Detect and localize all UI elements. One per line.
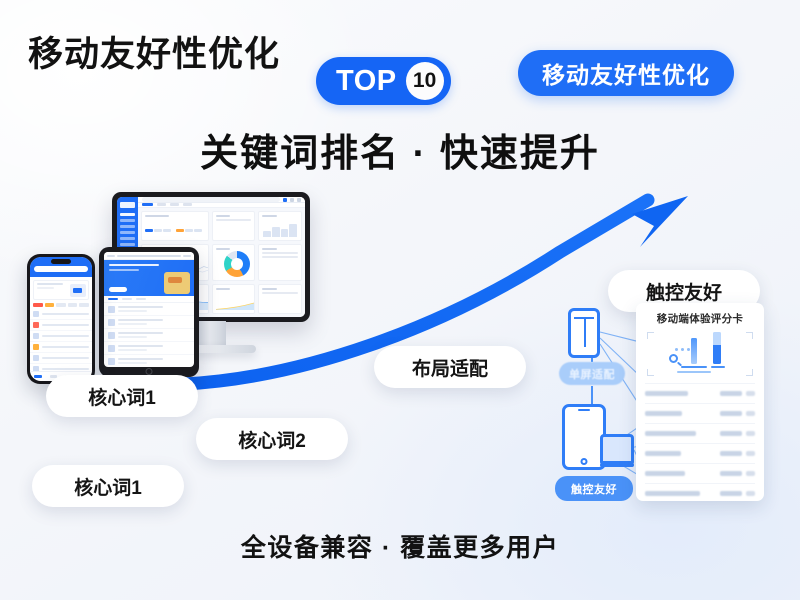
page-title: 移动友好性优化 <box>28 26 280 77</box>
hero-illustration <box>164 272 190 294</box>
widget-area-chart-right <box>212 284 256 314</box>
tab-item <box>170 203 179 206</box>
hero-cta-button <box>109 287 127 292</box>
dashboard-nav-item <box>120 243 135 246</box>
pill-keyword-3[interactable]: 核心词1 <box>32 465 184 507</box>
pill-layout-adapt[interactable]: 布局适配 <box>374 346 526 388</box>
header-tag-pill: 移动友好性优化 <box>518 50 734 96</box>
table-row <box>645 463 755 483</box>
dashboard-logo-icon <box>120 202 135 208</box>
widget-side-stats <box>258 244 302 282</box>
tablet-screen <box>104 252 194 367</box>
page-footer-text: 全设备兼容 · 覆盖更多用户 <box>0 528 800 564</box>
mobile-experience-diagram: 单屏适配 触控友好 移动端体验评分卡 <box>548 300 792 515</box>
phone-feature-card <box>33 280 89 300</box>
diagram-chip-single-screen: 单屏适配 <box>559 362 625 385</box>
search-input <box>34 266 88 272</box>
phone-device <box>27 254 95 384</box>
dashboard-nav-item <box>120 225 135 228</box>
dashboard-nav-item <box>120 219 135 222</box>
list-item <box>30 331 92 342</box>
tab-item <box>183 203 192 206</box>
phone-bezel <box>27 254 95 384</box>
bell-icon <box>283 198 287 202</box>
poster-canvas: 移动友好性优化 TOP 10 移动友好性优化 关键词排名 · 快速提升 全设备兼… <box>0 0 800 600</box>
pill-keyword-2[interactable]: 核心词2 <box>196 418 348 460</box>
list-item <box>30 320 92 331</box>
list-item <box>30 342 92 353</box>
phone-split-icon <box>568 308 600 358</box>
tablet-outline-icon <box>600 434 634 464</box>
tablet-statusbar <box>104 252 194 260</box>
phone-screen <box>30 257 92 381</box>
tab-item <box>157 203 166 206</box>
chart-bar <box>713 332 721 364</box>
tablet-bezel <box>99 247 199 377</box>
dashboard-nav-item <box>120 213 135 216</box>
list-item <box>104 303 194 316</box>
card-thumbnail <box>70 284 86 297</box>
chart-bar <box>691 338 697 364</box>
device-cluster <box>22 192 342 372</box>
dashboard-nav-item <box>120 231 135 234</box>
list-item <box>104 329 194 342</box>
mobile-score-card: 移动端体验评分卡 <box>636 303 764 501</box>
widget-filters <box>141 211 209 241</box>
list-item <box>30 309 92 320</box>
list-item <box>104 342 194 355</box>
table-row <box>645 483 755 503</box>
magnifier-icon <box>669 354 678 363</box>
home-button-icon <box>146 368 153 375</box>
list-item <box>30 353 92 364</box>
table-row <box>645 383 755 403</box>
top-number: 10 <box>406 62 444 100</box>
list-item <box>104 316 194 329</box>
tablet-device <box>99 247 199 377</box>
top-rank-badge: TOP 10 <box>316 57 451 105</box>
score-card-chart-illustration <box>647 332 753 376</box>
top-label: TOP <box>336 65 397 98</box>
tablet-hero-banner <box>104 260 194 296</box>
donut-chart <box>224 251 250 277</box>
gear-icon <box>290 198 294 202</box>
list-item <box>104 355 194 367</box>
phone-notch <box>51 259 71 264</box>
monitor-stand-neck <box>196 321 226 347</box>
diagram-chip-touch-friendly: 触控友好 <box>555 476 633 501</box>
score-card-title: 移动端体验评分卡 <box>645 311 755 326</box>
page-subtitle: 关键词排名 · 快速提升 <box>0 122 800 177</box>
table-row <box>645 443 755 463</box>
avatar <box>297 198 301 202</box>
tablet-segment-tabs <box>104 296 194 303</box>
widget-summary <box>212 211 256 241</box>
pill-keyword-1[interactable]: 核心词1 <box>46 375 198 417</box>
widget-donut-chart <box>212 244 256 282</box>
widget-misc <box>258 284 302 314</box>
search-input <box>142 197 280 202</box>
dashboard-nav-item <box>120 237 135 240</box>
tab-item <box>142 203 153 206</box>
table-row <box>645 403 755 423</box>
table-row <box>645 423 755 443</box>
widget-kpi <box>258 211 302 241</box>
